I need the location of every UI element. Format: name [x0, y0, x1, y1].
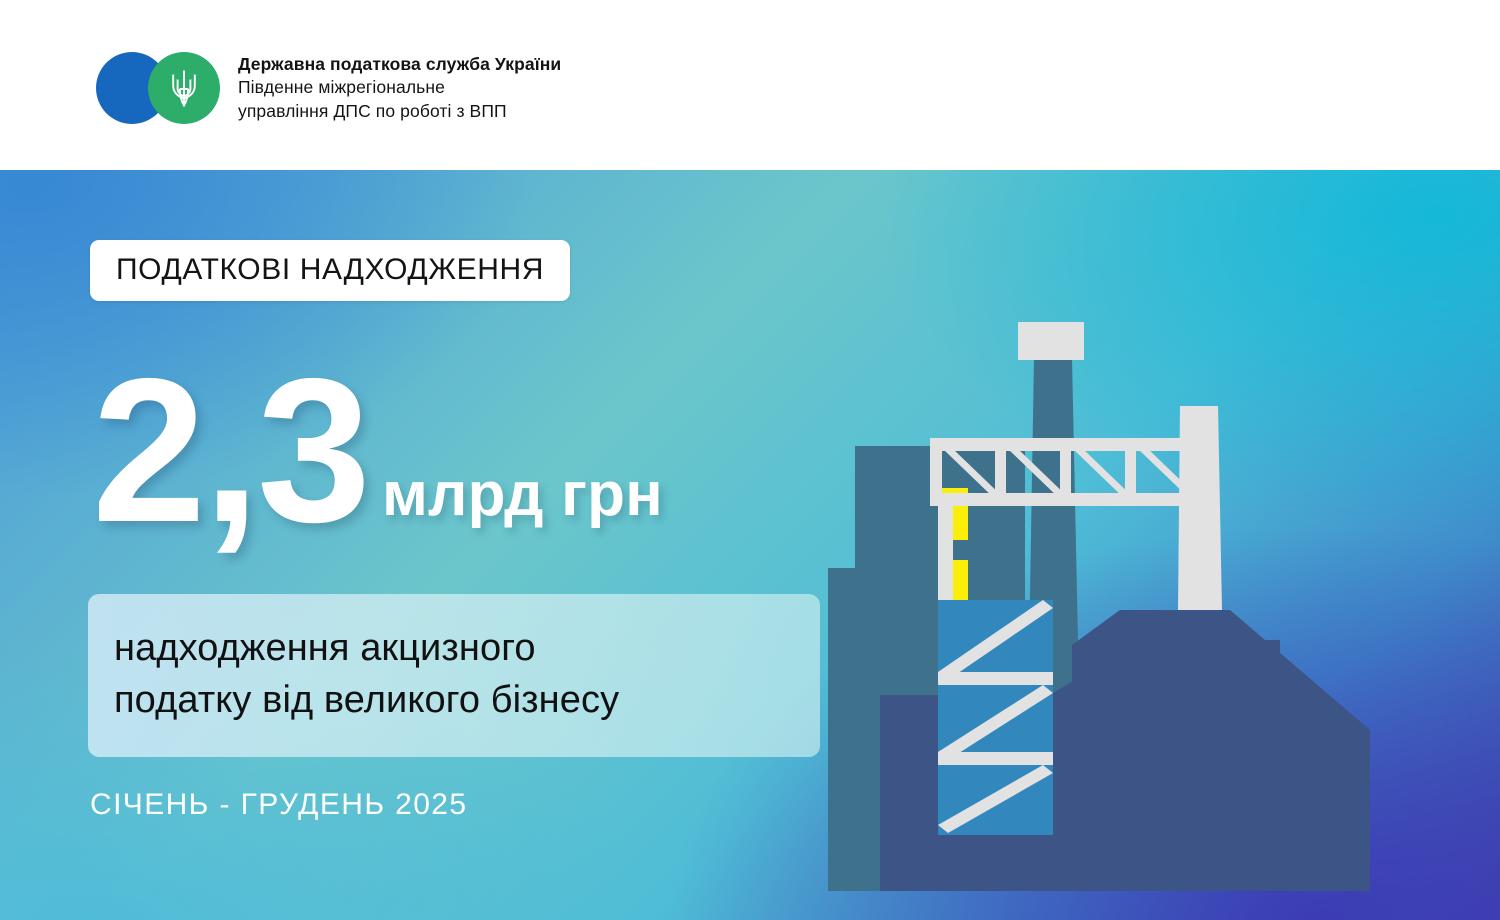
infographic-poster: Державна податкова служба України Півден…	[0, 0, 1500, 920]
agency-logo	[96, 52, 220, 124]
description-panel: надходження акцизного податку від велико…	[88, 594, 820, 757]
description-line-1: надходження акцизного	[114, 622, 794, 674]
reporting-period: СІЧЕНЬ - ГРУДЕНЬ 2025	[90, 788, 467, 822]
ukraine-trident-icon	[148, 52, 220, 124]
org-line-2: Південне міжрегіональне	[238, 76, 561, 99]
org-line-3: управління ДПС по роботі з ВПП	[238, 100, 561, 123]
factory-industrial-icon	[780, 310, 1480, 920]
header-branding: Державна податкова служба України Півден…	[96, 52, 561, 124]
figure-unit: млрд грн	[382, 459, 663, 530]
poster-body: ПОДАТКОВІ НАДХОДЖЕННЯ 2,3 млрд грн надхо…	[0, 170, 1500, 920]
right-chimney	[1178, 406, 1222, 610]
header-bar: Державна податкова служба України Півден…	[0, 0, 1500, 170]
org-line-1: Державна податкова служба України	[238, 53, 561, 76]
figure-value: 2,3	[92, 365, 368, 537]
organization-name: Державна податкова служба України Півден…	[238, 52, 561, 123]
headline-figure: 2,3 млрд грн	[92, 365, 663, 537]
dark-silo-building	[1072, 610, 1370, 891]
category-badge: ПОДАТКОВІ НАДХОДЖЕННЯ	[90, 240, 570, 301]
description-line-2: податку від великого бізнесу	[114, 674, 794, 726]
zigzag-stair-tower	[938, 600, 1053, 835]
